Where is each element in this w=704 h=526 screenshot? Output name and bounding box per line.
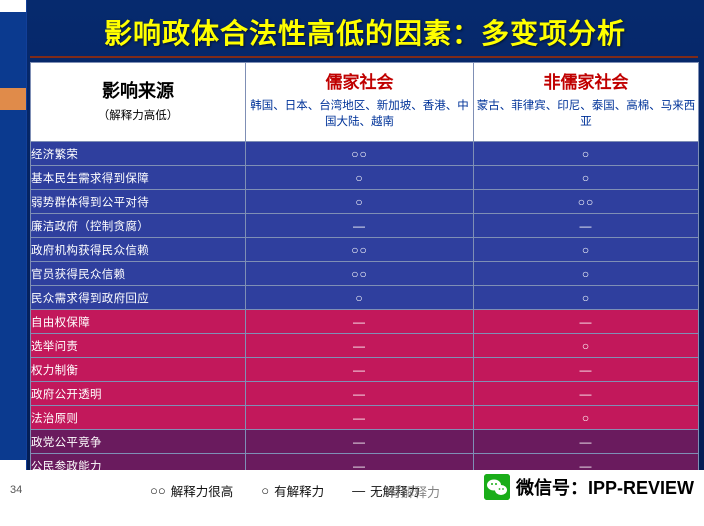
band-accent-top — [0, 0, 26, 12]
legend-overlay-text: 有解释力 — [388, 482, 440, 501]
header-non-confucian-main: 非儒家社会 — [474, 73, 698, 93]
row-non-confucian-value: ○ — [474, 238, 699, 262]
header-source: 影响来源 （解释力高低） — [31, 63, 246, 142]
left-decorative-band — [0, 0, 27, 526]
table-row: 自由权保障 — — — [31, 310, 699, 334]
row-confucian-value: ○ — [246, 190, 474, 214]
row-non-confucian-value: ○ — [474, 166, 699, 190]
row-label: 民众需求得到政府回应 — [31, 286, 246, 310]
header-confucian: 儒家社会 韩国、日本、台湾地区、新加坡、香港、中国大陆、越南 — [246, 63, 474, 142]
row-label: 弱势群体得到公平对待 — [31, 190, 246, 214]
table-row: 政党公平竞争 — — — [31, 430, 699, 454]
legend-item: ○ 有解释力 — [261, 481, 324, 500]
wechat-id-label: 微信号：IPP-REVIEW — [516, 474, 694, 500]
row-non-confucian-value: — — [474, 310, 699, 334]
row-confucian-value: — — [246, 310, 474, 334]
band-accent-orange — [0, 88, 26, 110]
table-body: 经济繁荣 ○○ ○ 基本民生需求得到保障 ○ ○ 弱势群体得到公平对待 ○ ○○… — [31, 142, 699, 478]
legend-item: ○○ 解释力很高 — [150, 481, 233, 500]
header-source-sub: （解释力高低） — [31, 107, 245, 123]
row-label: 政党公平竞争 — [31, 430, 246, 454]
table-row: 民众需求得到政府回应 ○ ○ — [31, 286, 699, 310]
row-confucian-value: — — [246, 358, 474, 382]
header-confucian-sub: 韩国、日本、台湾地区、新加坡、香港、中国大陆、越南 — [246, 98, 473, 131]
header-non-confucian-sub: 蒙古、菲律宾、印尼、泰国、高棉、马来西亚 — [474, 98, 698, 131]
table-row: 弱势群体得到公平对待 ○ ○○ — [31, 190, 699, 214]
row-confucian-value: — — [246, 382, 474, 406]
row-label: 廉洁政府（控制贪腐） — [31, 214, 246, 238]
row-non-confucian-value: — — [474, 214, 699, 238]
row-label: 法治原则 — [31, 406, 246, 430]
row-confucian-value: — — [246, 214, 474, 238]
legend-symbol: — — [352, 483, 365, 498]
table-row: 选举问责 — ○ — [31, 334, 699, 358]
table-row: 官员获得民众信赖 ○○ ○ — [31, 262, 699, 286]
row-label: 选举问责 — [31, 334, 246, 358]
table-header-row: 影响来源 （解释力高低） 儒家社会 韩国、日本、台湾地区、新加坡、香港、中国大陆… — [31, 63, 699, 142]
row-confucian-value: ○○ — [246, 262, 474, 286]
row-confucian-value: — — [246, 406, 474, 430]
header-source-main: 影响来源 — [31, 81, 245, 103]
slide-canvas: 影响政体合法性高低的因素：多变项分析 影响来源 （解释力高低） 儒家社会 韩国、… — [0, 0, 704, 526]
row-non-confucian-value: ○ — [474, 406, 699, 430]
row-non-confucian-value: — — [474, 430, 699, 454]
row-label: 政府公开透明 — [31, 382, 246, 406]
band-accent-bottom — [0, 460, 26, 470]
row-confucian-value: ○○ — [246, 142, 474, 166]
table-row: 法治原则 — ○ — [31, 406, 699, 430]
row-non-confucian-value: ○ — [474, 262, 699, 286]
table-row: 基本民生需求得到保障 ○ ○ — [31, 166, 699, 190]
row-non-confucian-value: ○○ — [474, 190, 699, 214]
slide-title-zone: 影响政体合法性高低的因素：多变项分析 — [26, 8, 704, 56]
row-confucian-value: ○ — [246, 166, 474, 190]
row-label: 官员获得民众信赖 — [31, 262, 246, 286]
row-label: 自由权保障 — [31, 310, 246, 334]
legend-symbol: ○○ — [150, 483, 166, 498]
table-row: 政府公开透明 — — — [31, 382, 699, 406]
table-row: 权力制衡 — — — [31, 358, 699, 382]
wechat-watermark: 微信号：IPP-REVIEW — [484, 474, 694, 500]
row-label: 政府机构获得民众信赖 — [31, 238, 246, 262]
factors-matrix-table: 影响来源 （解释力高低） 儒家社会 韩国、日本、台湾地区、新加坡、香港、中国大陆… — [30, 62, 699, 478]
row-confucian-value: — — [246, 334, 474, 358]
table-row: 廉洁政府（控制贪腐） — — — [31, 214, 699, 238]
row-confucian-value: ○○ — [246, 238, 474, 262]
table-row: 经济繁荣 ○○ ○ — [31, 142, 699, 166]
row-label: 经济繁荣 — [31, 142, 246, 166]
header-non-confucian: 非儒家社会 蒙古、菲律宾、印尼、泰国、高棉、马来西亚 — [474, 63, 699, 142]
row-label: 基本民生需求得到保障 — [31, 166, 246, 190]
legend-label: 有解释力 — [274, 481, 324, 500]
page-number: 34 — [10, 484, 22, 496]
title-divider — [30, 56, 698, 58]
page-title: 影响政体合法性高低的因素：多变项分析 — [104, 12, 626, 52]
row-label: 权力制衡 — [31, 358, 246, 382]
row-non-confucian-value: ○ — [474, 334, 699, 358]
row-confucian-value: ○ — [246, 286, 474, 310]
wechat-qr-icon — [484, 474, 510, 500]
row-non-confucian-value: — — [474, 382, 699, 406]
legend-symbol: ○ — [261, 483, 269, 498]
row-non-confucian-value: ○ — [474, 286, 699, 310]
legend-label: 解释力很高 — [171, 481, 234, 500]
table-row: 政府机构获得民众信赖 ○○ ○ — [31, 238, 699, 262]
matrix-table-container: 影响来源 （解释力高低） 儒家社会 韩国、日本、台湾地区、新加坡、香港、中国大陆… — [30, 62, 698, 467]
header-confucian-main: 儒家社会 — [246, 73, 473, 93]
row-non-confucian-value: ○ — [474, 142, 699, 166]
row-confucian-value: — — [246, 430, 474, 454]
row-non-confucian-value: — — [474, 358, 699, 382]
